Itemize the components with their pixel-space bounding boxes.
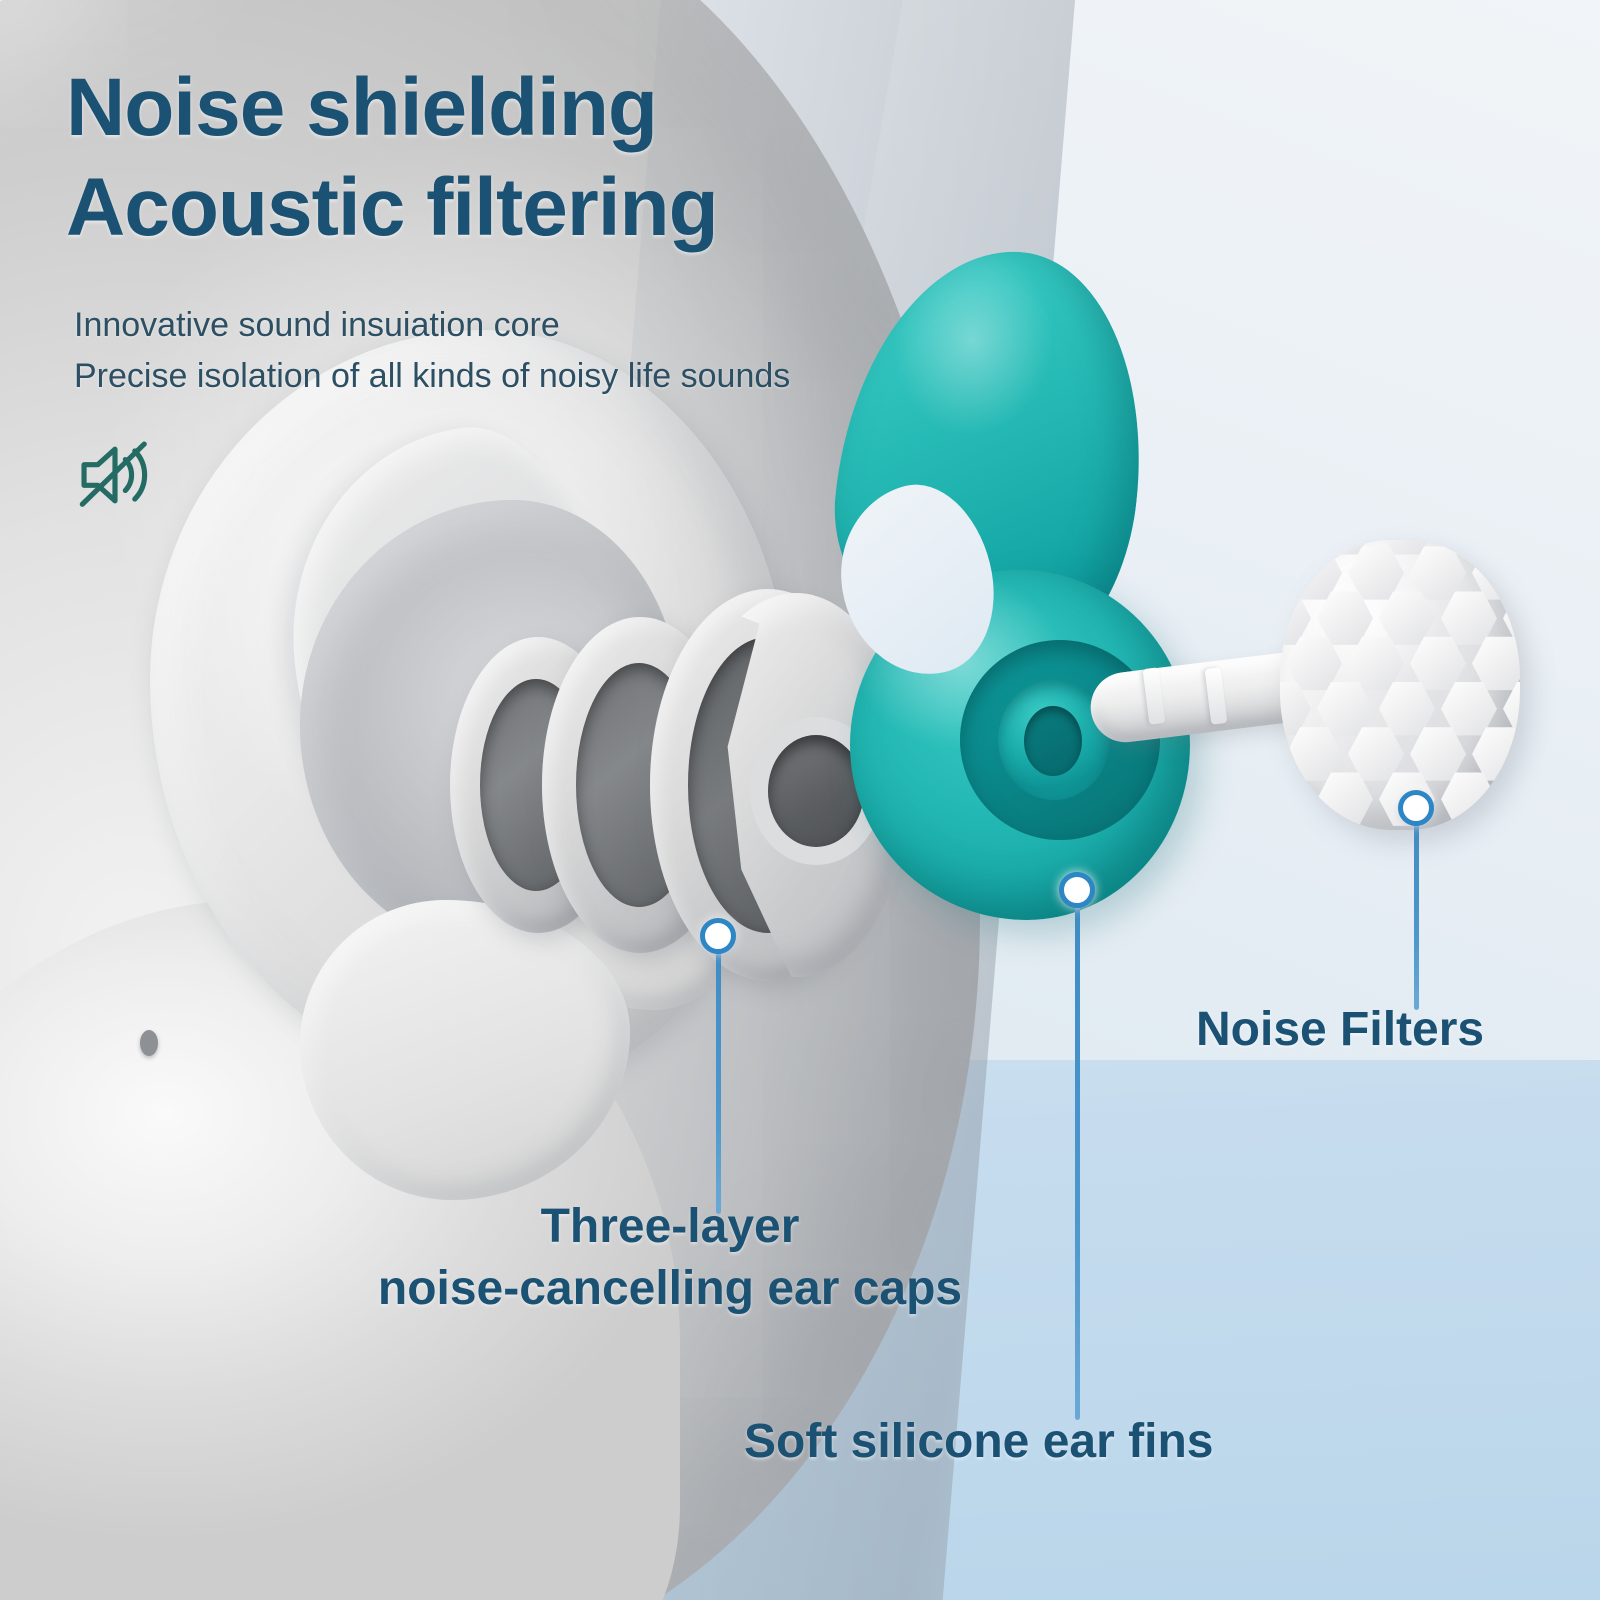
subtitle-line-2: Precise isolation of all kinds of noisy … [74, 351, 1024, 402]
page-subtitle: Innovative sound insuiation core Precise… [74, 300, 1024, 402]
noise-filter-cap [1280, 540, 1520, 830]
callout-ear-fins-line-1: Soft silicone ear fins [744, 1412, 1213, 1472]
callout-label-noise-filters: Noise Filters [1196, 1000, 1484, 1060]
callout-ear-caps-line-2: noise-cancelling ear caps [300, 1258, 1040, 1320]
mute-speaker-icon [72, 432, 158, 518]
leader-line-noise-filters [1414, 824, 1419, 1010]
leader-line-ear-caps [716, 952, 721, 1214]
title-line-1: Noise shielding [66, 58, 1066, 158]
callout-dot-noise-filters[interactable] [1398, 790, 1434, 826]
product-infographic: Noise shielding Acoustic filtering Innov… [0, 0, 1600, 1600]
leader-line-ear-fins [1075, 906, 1080, 1420]
callout-dot-ear-caps[interactable] [700, 918, 736, 954]
callout-label-ear-fins: Soft silicone ear fins [744, 1412, 1213, 1472]
noise-filter-part [1090, 540, 1510, 840]
earlobe-piercing [140, 1030, 158, 1056]
ear-fin-bore [1024, 706, 1082, 776]
callout-label-ear-caps: Three-layer noise-cancelling ear caps [300, 1196, 1040, 1321]
callout-ear-caps-line-1: Three-layer [300, 1196, 1040, 1258]
title-line-2: Acoustic filtering [66, 158, 1066, 258]
callout-dot-ear-fins[interactable] [1059, 872, 1095, 908]
page-title: Noise shielding Acoustic filtering [66, 58, 1066, 258]
callout-noise-filters-line-1: Noise Filters [1196, 1000, 1484, 1060]
subtitle-line-1: Innovative sound insuiation core [74, 300, 1024, 351]
